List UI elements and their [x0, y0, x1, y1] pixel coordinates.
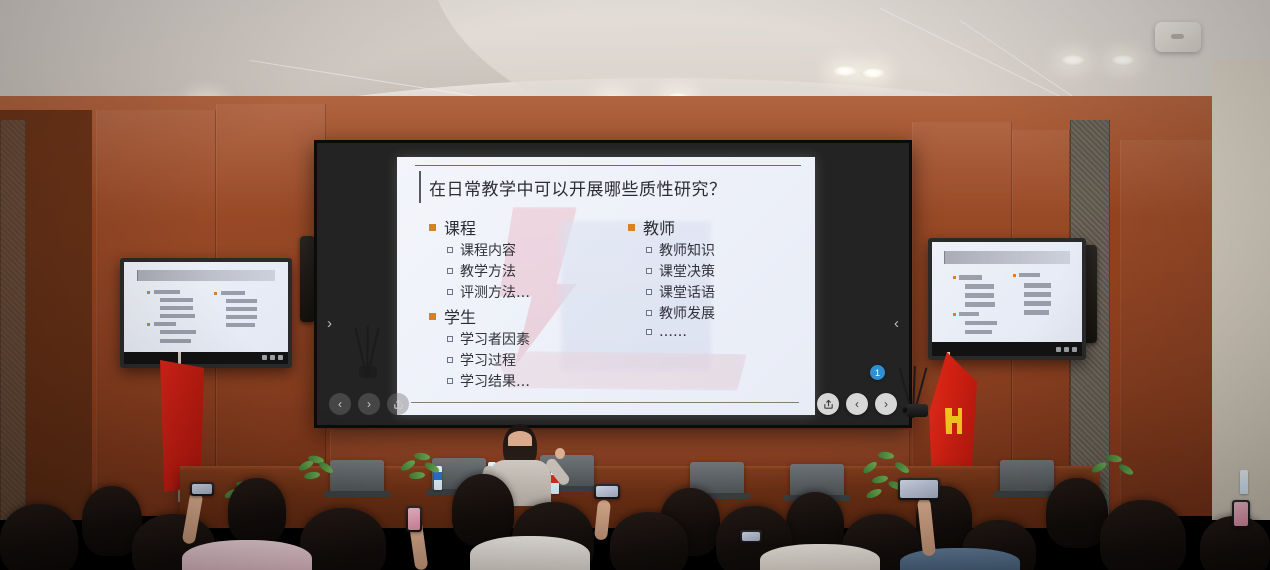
page-badge: 1 — [870, 365, 885, 380]
projected-slide: 在日常教学中可以开展哪些质性研究？ 课程 课程内容 教学方法 — [397, 157, 815, 415]
mini-slide-row — [1019, 273, 1040, 278]
monitor-toolbar-dot[interactable] — [262, 355, 267, 360]
audience-raised-arm — [594, 499, 611, 540]
audience-head — [452, 474, 514, 546]
slide-item: 课堂话语 — [646, 282, 801, 302]
side-monitor-right-screen — [932, 242, 1082, 356]
audience-shoulders — [900, 548, 1020, 570]
slide-item-label: 课堂话语 — [659, 282, 715, 302]
mini-slide-title — [137, 270, 275, 281]
bullet-square-icon — [628, 224, 635, 231]
hammer-sickle-emblem-icon — [941, 404, 965, 438]
plant-leaf — [865, 487, 882, 500]
mini-slide-row — [226, 307, 257, 311]
slide-item-label: 课堂决策 — [659, 261, 715, 281]
slide-content-columns: 课程 课程内容 教学方法 评测方法… — [421, 213, 801, 391]
laptop[interactable] — [1000, 460, 1054, 492]
plant-leaf — [317, 460, 334, 475]
smartphone-screen — [900, 480, 938, 498]
bullet-hollow-square-icon — [646, 310, 652, 316]
slide-item-label: 课程内容 — [460, 240, 516, 260]
slide-item-label: 学习结果… — [460, 371, 530, 391]
slide-item: 教师发展 — [646, 303, 801, 323]
bullet-square-icon — [429, 313, 436, 320]
smartphone[interactable] — [740, 530, 762, 543]
slide-item-label: 学习过程 — [460, 350, 516, 370]
presenter-raised-hand — [555, 448, 565, 459]
plant-leaf — [1117, 462, 1134, 476]
mini-slide-row — [226, 299, 257, 303]
plant-leaf — [1106, 454, 1123, 464]
potted-plant — [400, 450, 446, 486]
ceiling-downlight — [1110, 55, 1136, 66]
slide-heading-jiaoshi: 教师 — [628, 215, 801, 239]
slide-item: 学习者因素 — [447, 329, 602, 349]
mini-slide-row — [160, 339, 191, 343]
plant-leaf — [409, 471, 426, 479]
mini-slide-row — [959, 275, 982, 280]
plant-leaf — [871, 474, 888, 484]
ceiling-downlight — [1060, 55, 1086, 66]
side-monitor-right[interactable] — [928, 238, 1086, 360]
bullet-hollow-square-icon — [646, 247, 652, 253]
monitor-toolbar-dot[interactable] — [1056, 347, 1061, 352]
plant-leaf — [893, 460, 910, 475]
mini-slide-row — [965, 293, 994, 298]
ceiling-downlight — [860, 68, 886, 79]
smartphone-screen — [742, 532, 760, 541]
water-bottle — [1240, 470, 1248, 494]
smartphone[interactable] — [1232, 500, 1250, 528]
mini-slide-row — [965, 321, 997, 326]
slide-item: 学习过程 — [447, 350, 602, 370]
slide-item-label: 评测方法… — [460, 282, 530, 302]
mini-bullet-icon — [147, 291, 150, 294]
slide-item-label: …… — [659, 324, 687, 340]
slide-item: 学习结果… — [447, 371, 602, 391]
audience-head — [1100, 500, 1186, 570]
mini-slide-row — [1024, 283, 1051, 288]
mini-bullet-icon — [953, 313, 956, 316]
plant-leaf — [878, 451, 895, 460]
slide-heading-label: 教师 — [643, 215, 675, 239]
smartphone[interactable] — [594, 484, 620, 499]
audience-head — [1046, 478, 1108, 548]
prev-slide-button-left[interactable]: ‹ — [329, 393, 351, 415]
monitor-toolbar-right[interactable] — [932, 342, 1082, 356]
slide-item-label: 教学方法 — [460, 261, 516, 281]
mini-bullet-icon — [214, 292, 217, 295]
monitor-toolbar-dot[interactable] — [1072, 347, 1077, 352]
main-display-panel[interactable]: › ‹ 在日常教学中可以开展哪些质性研究？ 课程 — [314, 140, 912, 428]
slide-heading-label: 学生 — [444, 304, 476, 328]
plant-leaf — [862, 460, 879, 475]
bullet-hollow-square-icon — [447, 336, 453, 342]
bullet-hollow-square-icon — [447, 289, 453, 295]
mini-slide-row — [160, 298, 193, 302]
slide-column-right: 教师 教师知识 课堂决策 课堂话语 — [620, 213, 801, 391]
screen-controls-left[interactable]: ‹ › — [329, 393, 409, 415]
mini-bullet-icon — [953, 276, 956, 279]
smartphone[interactable] — [898, 478, 940, 500]
smartphone[interactable] — [406, 506, 422, 532]
ceiling-downlight — [832, 66, 858, 77]
bullet-hollow-square-icon — [646, 329, 652, 335]
screen-edge-left-arrow-icon[interactable]: ‹ — [894, 315, 899, 332]
mini-slide-row — [226, 323, 256, 327]
mini-bullet-icon — [147, 323, 150, 326]
bullet-hollow-square-icon — [447, 378, 453, 384]
potted-plant — [296, 452, 342, 486]
mini-slide-title — [944, 251, 1070, 264]
next-slide-button-left[interactable]: › — [358, 393, 380, 415]
bullet-square-icon — [429, 224, 436, 231]
slide-item: 课堂决策 — [646, 261, 801, 281]
audience-head — [228, 478, 286, 544]
slide-item: …… — [646, 324, 801, 340]
slide-heading-kecheng: 课程 — [429, 215, 602, 239]
mini-slide-row — [965, 302, 995, 307]
smartphone-screen — [408, 508, 420, 530]
mini-slide-row — [1024, 310, 1050, 315]
smartphone-screen — [1234, 502, 1248, 526]
mini-slide-row — [160, 314, 194, 318]
smartphone-screen — [192, 484, 212, 494]
mini-bullet-icon — [1013, 274, 1016, 277]
plant-leaf — [304, 471, 321, 480]
mini-slide-row — [160, 330, 196, 334]
share-icon-left[interactable] — [387, 393, 409, 415]
slide-item: 教学方法 — [447, 261, 602, 281]
slide-bottom-rule — [411, 402, 799, 403]
video-camera — [906, 404, 928, 417]
audience-shoulders — [760, 544, 880, 570]
monitor-toolbar-dot[interactable] — [270, 355, 275, 360]
audience-shoulders — [470, 536, 590, 570]
slide-item: 课程内容 — [447, 240, 602, 260]
audience-head — [300, 508, 386, 570]
slide-top-rule — [415, 165, 801, 166]
smartphone-screen — [596, 486, 618, 497]
plant-leaf — [399, 458, 416, 472]
slide-heading-label: 课程 — [444, 215, 476, 239]
wall-right-beige-column — [1212, 60, 1270, 520]
smartphone[interactable] — [190, 482, 214, 496]
mini-slide-row — [1024, 301, 1051, 306]
screen-controls-right[interactable]: ‹ › — [817, 393, 897, 415]
next-slide-button[interactable]: › — [875, 393, 897, 415]
slide-item-label: 教师发展 — [659, 303, 715, 323]
bullet-hollow-square-icon — [646, 289, 652, 295]
mini-slide-row — [965, 330, 992, 335]
side-monitor-left[interactable] — [120, 258, 292, 368]
slide-item: 评测方法… — [447, 282, 602, 302]
monitor-toolbar-dot[interactable] — [1064, 347, 1069, 352]
mini-slide-row — [154, 290, 180, 294]
monitor-toolbar-left[interactable] — [124, 352, 288, 364]
mini-slide-row — [1024, 292, 1051, 297]
mini-slide-row — [160, 306, 193, 310]
monitor-toolbar-dot[interactable] — [278, 355, 283, 360]
audience-head — [610, 512, 688, 570]
bullet-hollow-square-icon — [447, 357, 453, 363]
prev-slide-button[interactable]: ‹ — [846, 393, 868, 415]
acoustic-mesh-strip-left — [0, 120, 26, 520]
audience-shoulders — [182, 540, 312, 570]
audience-head — [0, 504, 78, 570]
slide-title: 在日常教学中可以开展哪些质性研究？ — [419, 171, 799, 203]
lecture-hall-scene: › ‹ 在日常教学中可以开展哪些质性研究？ 课程 — [0, 0, 1270, 570]
mini-slide-row — [965, 284, 994, 289]
mini-slide-row — [226, 315, 257, 319]
ceiling-projector-box — [1155, 22, 1201, 52]
wall-speaker-left — [300, 236, 315, 322]
plant-leaf — [423, 460, 440, 474]
mini-slide-row — [221, 291, 246, 295]
slide-item: 教师知识 — [646, 240, 801, 260]
plant-leaf — [1090, 460, 1107, 474]
plant-leaf — [414, 452, 431, 461]
bullet-hollow-square-icon — [447, 247, 453, 253]
slide-column-left: 课程 课程内容 教学方法 评测方法… — [421, 213, 602, 391]
share-icon[interactable] — [817, 393, 839, 415]
screen-edge-right-arrow-icon[interactable]: › — [327, 315, 332, 332]
mini-slide-row — [959, 312, 979, 317]
bullet-hollow-square-icon — [646, 268, 652, 274]
side-monitor-left-screen — [124, 262, 288, 364]
slide-item-label: 学习者因素 — [460, 329, 530, 349]
slide-heading-xuesheng: 学生 — [429, 304, 602, 328]
slide-item-label: 教师知识 — [659, 240, 715, 260]
mini-slide-row — [154, 322, 177, 326]
bullet-hollow-square-icon — [447, 268, 453, 274]
